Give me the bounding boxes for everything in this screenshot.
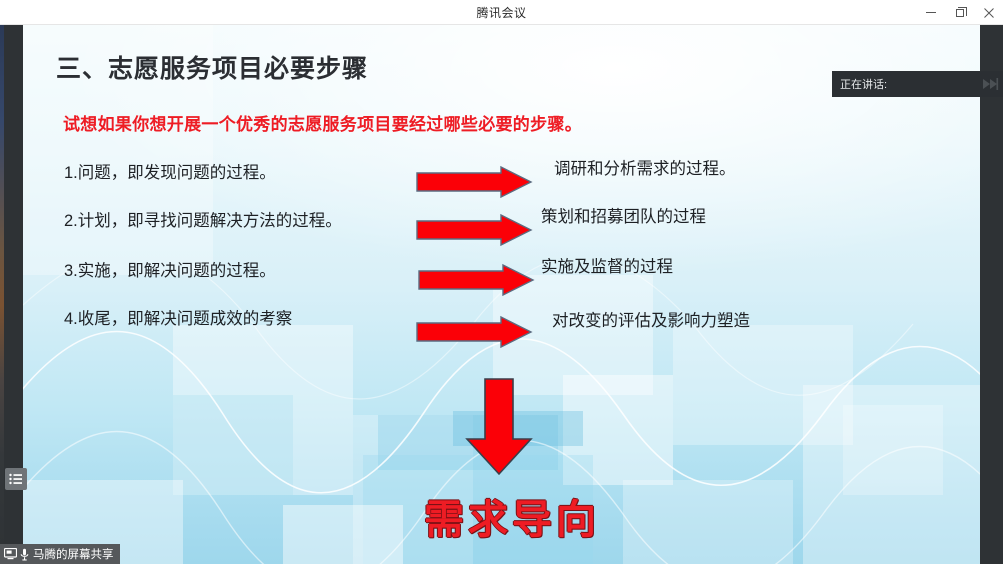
presentation-slide: 三、志愿服务项目必要步骤 试想如果你想开展一个优秀的志愿服务项目要经过哪些必要的… xyxy=(23,25,980,564)
screen-share-icon xyxy=(4,548,17,560)
step-right-3: 实施及监督的过程 xyxy=(541,253,673,277)
right-rail xyxy=(980,25,1003,564)
window-controls xyxy=(916,0,1003,25)
microphone-icon xyxy=(20,548,29,561)
maximize-button[interactable] xyxy=(945,0,974,25)
arrow-right-4 xyxy=(415,315,533,354)
arrow-right-2 xyxy=(415,213,533,252)
arrow-right-1 xyxy=(415,165,533,204)
maximize-icon xyxy=(956,9,964,17)
arrow-right-3 xyxy=(417,263,535,302)
step-left-3: 3.实施，即解决问题的过程。 xyxy=(64,257,276,281)
close-icon xyxy=(984,8,994,18)
close-button[interactable] xyxy=(974,0,1003,25)
screen-share-tag: 马腾的屏幕共享 xyxy=(0,544,120,564)
meeting-window: 腾讯会议 xyxy=(0,0,1003,564)
step-right-4: 对改变的评估及影响力塑造 xyxy=(552,307,750,331)
minimize-button[interactable] xyxy=(916,0,945,25)
step-right-2: 策划和招募团队的过程 xyxy=(541,203,706,227)
minimize-icon xyxy=(926,12,936,13)
speaking-indicator-bar[interactable]: 正在讲话: xyxy=(832,71,1003,97)
arrow-down-conclusion xyxy=(463,377,535,482)
title-bar: 腾讯会议 xyxy=(0,0,1003,25)
participants-list-button[interactable] xyxy=(5,468,27,490)
step-left-1: 1.问题，即发现问题的过程。 xyxy=(64,159,276,183)
step-left-2: 2.计划，即寻找问题解决方法的过程。 xyxy=(64,207,342,231)
conclusion-text: 需求导向 xyxy=(392,487,632,545)
app-title: 腾讯会议 xyxy=(476,4,526,21)
chevron-right-double-icon[interactable] xyxy=(980,74,1000,94)
shared-screen-stage: 三、志愿服务项目必要步骤 试想如果你想开展一个优秀的志愿服务项目要经过哪些必要的… xyxy=(0,25,1003,564)
speaking-label: 正在讲话: xyxy=(840,76,887,92)
list-menu-icon xyxy=(9,473,23,485)
steps-group: 1.问题，即发现问题的过程。 调研和分析需求的过程。 2.计划，即寻找问题解决方… xyxy=(23,25,980,564)
screen-share-tag-label: 马腾的屏幕共享 xyxy=(33,546,114,562)
step-left-4: 4.收尾，即解决问题成效的考察 xyxy=(64,305,292,329)
step-right-1: 调研和分析需求的过程。 xyxy=(554,155,736,179)
